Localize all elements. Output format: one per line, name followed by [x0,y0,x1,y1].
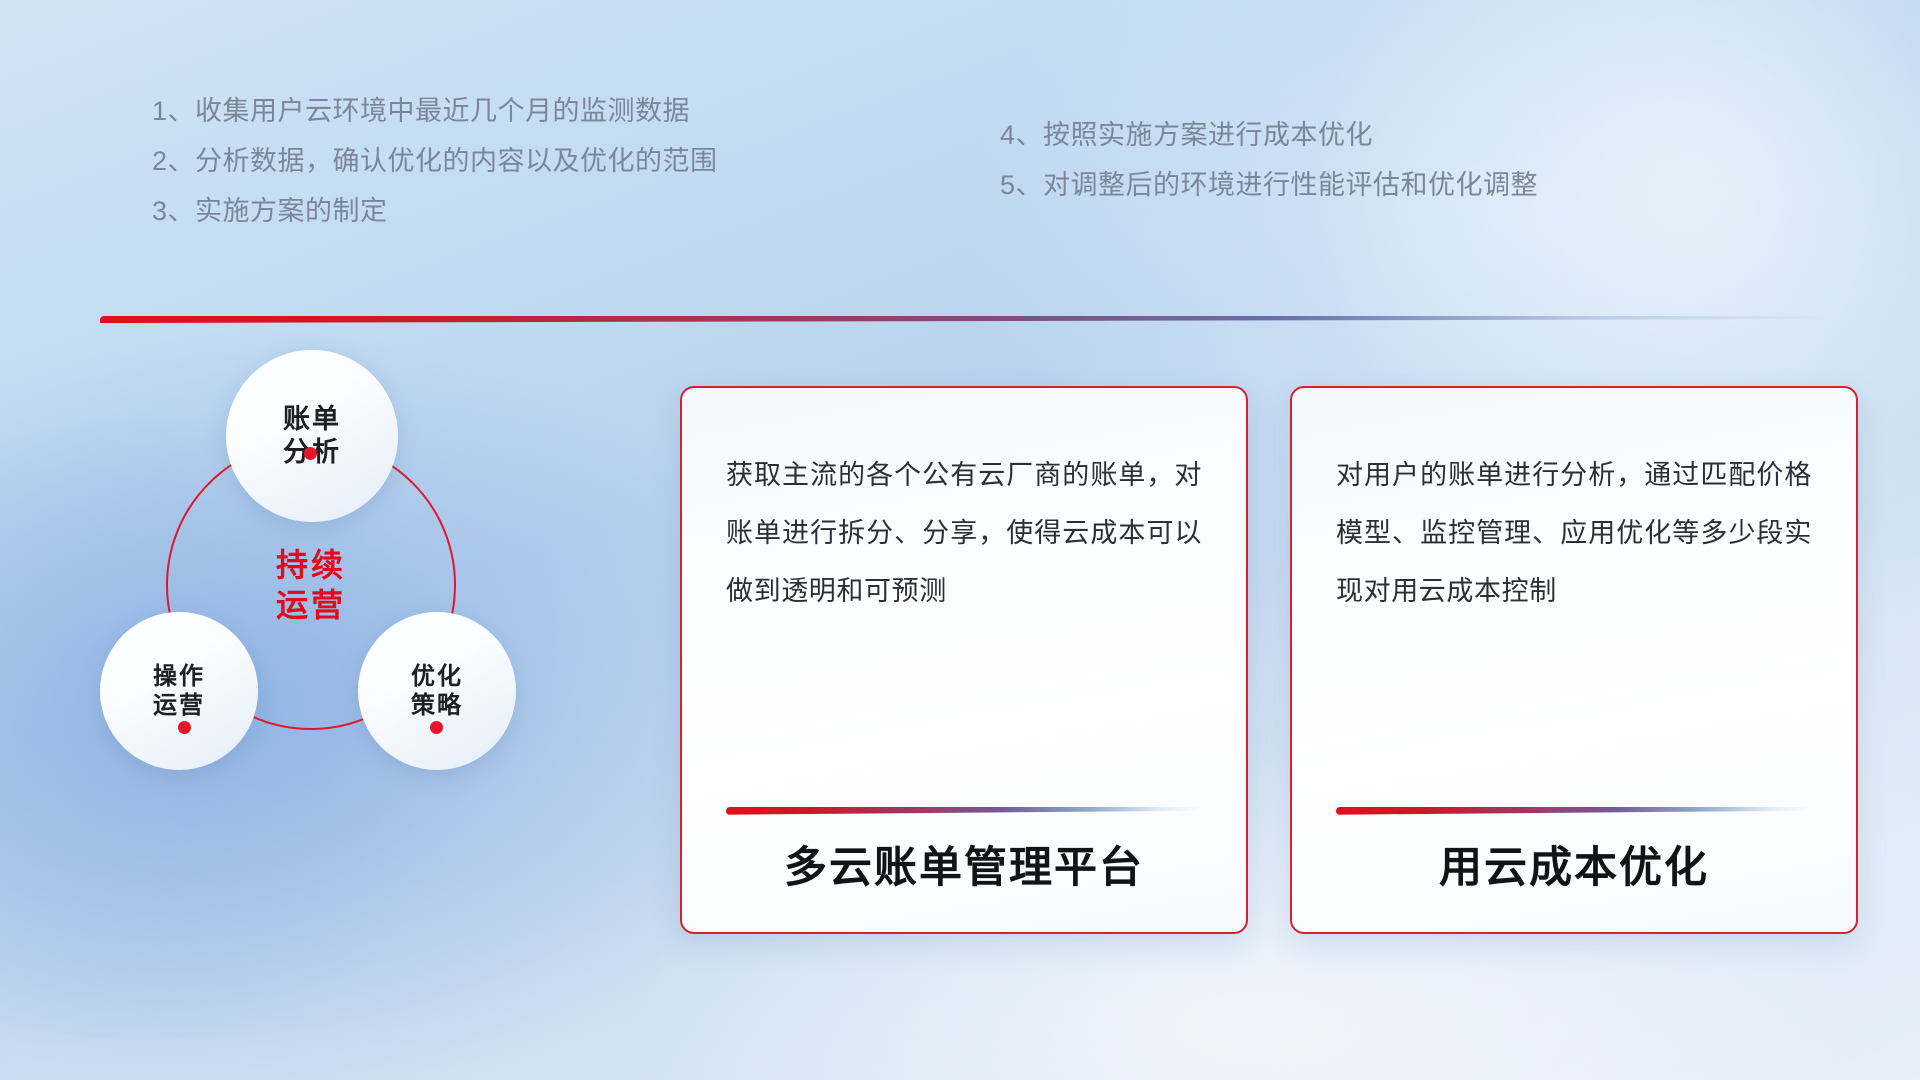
card-divider-rule [726,807,1202,815]
connector-dot-right-icon [430,721,443,734]
card-multi-cloud-bill-platform[interactable]: 获取主流的各个公有云厂商的账单，对账单进行拆分、分享，使得云成本可以做到透明和可… [680,386,1248,934]
card-body-text: 对用户的账单进行分析，通过匹配价格模型、监控管理、应用优化等多少段实现对用云成本… [1336,446,1812,620]
card-cloud-cost-optimization[interactable]: 对用户的账单进行分析，通过匹配价格模型、监控管理、应用优化等多少段实现对用云成本… [1290,386,1858,934]
connector-dot-left-icon [178,721,191,734]
node-label-line1: 账单 [283,403,341,436]
step-item-2: 2、分析数据，确认优化的内容以及优化的范围 [152,148,718,175]
card-body-text: 获取主流的各个公有云厂商的账单，对账单进行拆分、分享，使得云成本可以做到透明和可… [726,446,1202,620]
slide-canvas: 1、收集用户云环境中最近几个月的监测数据 2、分析数据，确认优化的内容以及优化的… [0,0,1920,1080]
step-item-5: 5、对调整后的环境进行性能评估和优化调整 [1000,172,1538,199]
center-label-line1: 持续 [276,545,346,585]
step-item-1: 1、收集用户云环境中最近几个月的监测数据 [152,98,718,125]
card-divider-rule [1336,807,1812,815]
card-title: 用云成本优化 [1336,845,1812,892]
steps-list-right: 4、按照实施方案进行成本优化 5、对调整后的环境进行性能评估和优化调整 [1000,122,1538,222]
step-item-4: 4、按照实施方案进行成本优化 [1000,122,1538,149]
section-divider-rule [100,316,1830,323]
diagram-center-label: 持续 运营 [166,440,456,730]
step-item-3: 3、实施方案的制定 [152,198,718,225]
center-label-line2: 运营 [276,585,346,625]
card-title: 多云账单管理平台 [726,845,1202,892]
continuous-operation-diagram: 持续 运营 账单 分析 操作 运营 优化 策略 [100,350,620,960]
connector-dot-top-icon [304,447,317,460]
steps-list-left: 1、收集用户云环境中最近几个月的监测数据 2、分析数据，确认优化的内容以及优化的… [152,98,718,248]
